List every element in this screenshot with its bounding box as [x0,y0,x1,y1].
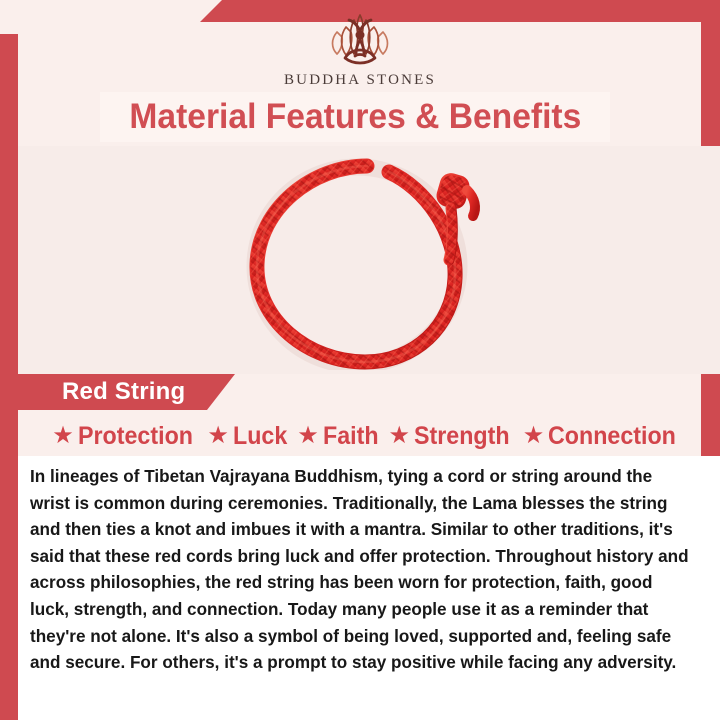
benefit-item-protection: ★ Protection [52,422,201,451]
benefit-label: Protection [78,422,193,451]
decor-band-left [0,34,18,706]
description-card: In lineages of Tibetan Vajrayana Buddhis… [18,456,720,720]
star-icon: ★ [297,424,319,448]
benefit-label: Luck [233,422,287,451]
benefits-list: ★ Protection ★ Luck ★ Faith ★ Strength ★… [18,416,720,456]
brand-logo: BUDDHA STONES [0,10,720,89]
benefit-label: Strength [414,422,510,451]
star-icon: ★ [207,424,229,448]
benefit-item-luck: ★ Luck [207,422,291,451]
product-name: Red String [62,378,185,406]
benefit-item-connection: ★ Connection [523,422,686,451]
benefit-label: Connection [548,422,676,451]
lotus-meditation-figure-icon [306,10,414,70]
star-icon: ★ [388,424,410,448]
star-icon: ★ [523,424,545,448]
brand-name: BUDDHA STONES [284,72,436,89]
title-banner: Material Features & Benefits [100,92,610,142]
star-icon: ★ [52,424,74,448]
benefit-item-strength: ★ Strength [388,422,516,451]
benefit-item-faith: ★ Faith [297,422,382,451]
benefit-label: Faith [323,422,379,451]
description-text: In lineages of Tibetan Vajrayana Buddhis… [30,463,690,676]
product-image [18,146,720,374]
infographic-card: BUDDHA STONES Material Features & Benefi… [0,0,720,720]
page-title: Material Features & Benefits [129,97,581,137]
product-name-ribbon: Red String [0,374,235,410]
